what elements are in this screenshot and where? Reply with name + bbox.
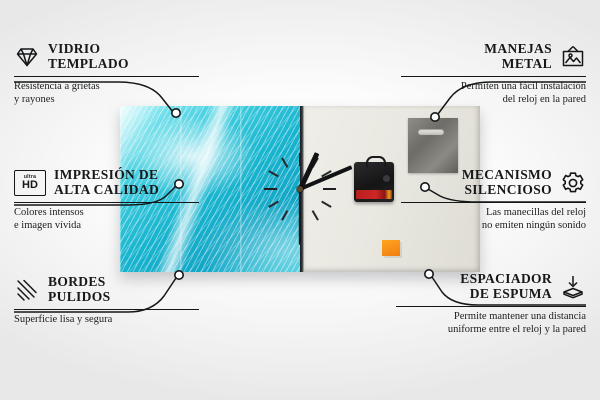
feature-title: BORDESPULIDOS	[48, 275, 110, 304]
feature-rule	[396, 306, 586, 307]
feature-hd-print: ultra HD IMPRESIÓN DEALTA CALIDAD Colore…	[14, 168, 199, 232]
clock-center-pin	[297, 186, 303, 192]
hanger-slot	[418, 129, 444, 135]
diamond-icon	[14, 44, 40, 70]
battery-compartment	[356, 190, 392, 199]
foam-spacer-pad	[382, 240, 400, 256]
feature-rule	[401, 202, 586, 203]
feature-title: ESPACIADORDE ESPUMA	[460, 272, 552, 301]
clock-second-hand	[299, 189, 301, 245]
feature-rule	[14, 76, 199, 77]
mechanism-dial	[383, 175, 390, 182]
feature-tempered-glass: VIDRIOTEMPLADO Resistencia a grietasy ra…	[14, 42, 199, 106]
feature-header: ultra HD IMPRESIÓN DEALTA CALIDAD	[14, 168, 199, 197]
feature-header: MANEJASMETAL	[401, 42, 586, 71]
feature-description: Superficie lisa y segura	[14, 314, 199, 327]
feature-rule	[14, 309, 199, 310]
foam-spacer-icon	[560, 274, 586, 300]
feature-metal-handles: MANEJASMETAL Permiten una fácil instalac…	[401, 42, 586, 106]
feature-header: BORDESPULIDOS	[14, 275, 199, 304]
feature-description: Colores intensose imagen vívida	[14, 207, 199, 232]
feature-description: Permite mantener una distanciauniforme e…	[396, 311, 586, 336]
frame-hanger-icon	[560, 44, 586, 70]
feature-foam-spacer: ESPACIADORDE ESPUMA Permite mantener una…	[396, 272, 586, 336]
ultra-hd-icon: ultra HD	[14, 170, 46, 196]
polished-edges-icon	[14, 277, 40, 303]
metal-hanger-plate	[408, 118, 458, 173]
gear-icon	[560, 170, 586, 196]
feature-title: MANEJASMETAL	[484, 42, 552, 71]
feature-rule	[401, 76, 586, 77]
feature-title: MECANISMOSILENCIOSO	[462, 168, 552, 197]
feature-polished-edges: BORDESPULIDOS Superficie lisa y segura	[14, 275, 199, 327]
feature-silent-mechanism: MECANISMOSILENCIOSO Las manecillas del r…	[401, 168, 586, 232]
feature-description: Las manecillas del relojno emiten ningún…	[401, 207, 586, 232]
feature-description: Resistencia a grietasy rayones	[14, 81, 199, 106]
feature-title: VIDRIOTEMPLADO	[48, 42, 129, 71]
feature-title: IMPRESIÓN DEALTA CALIDAD	[54, 168, 159, 197]
feature-description: Permiten una fácil instalacióndel reloj …	[401, 81, 586, 106]
feature-header: VIDRIOTEMPLADO	[14, 42, 199, 71]
clock-mechanism	[354, 162, 394, 202]
feature-rule	[14, 202, 199, 203]
feature-header: MECANISMOSILENCIOSO	[401, 168, 586, 197]
mechanism-hook	[366, 156, 386, 167]
infographic-stage: VIDRIOTEMPLADO Resistencia a grietasy ra…	[0, 0, 600, 400]
feature-header: ESPACIADORDE ESPUMA	[396, 272, 586, 301]
